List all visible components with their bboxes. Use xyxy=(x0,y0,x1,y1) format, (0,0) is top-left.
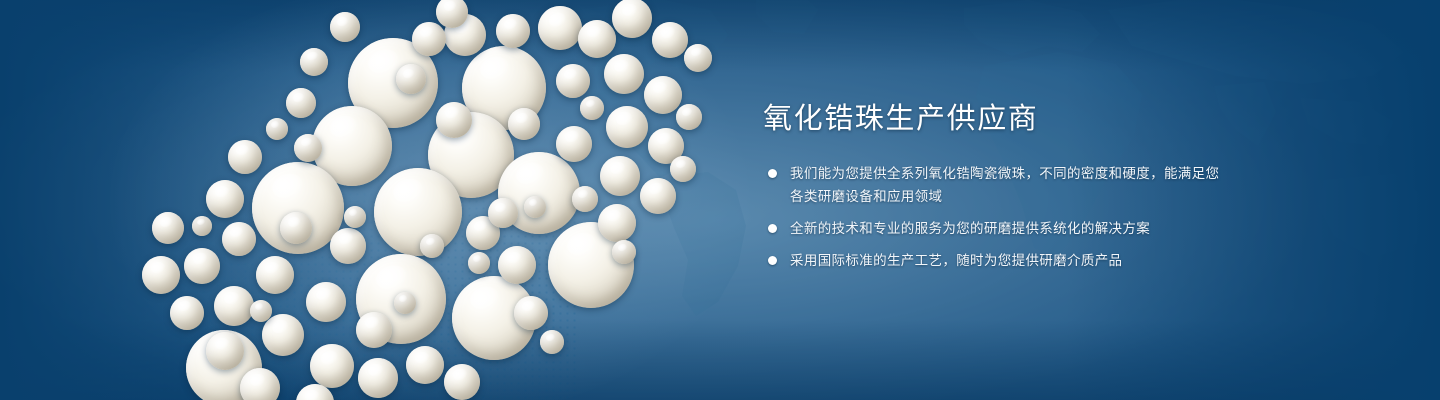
list-item-label: 我们能为您提供全系列氧化锆陶瓷微珠，不同的密度和硬度，能满足您各类研磨设备和应用… xyxy=(790,166,1219,204)
feature-list: 我们能为您提供全系列氧化锆陶瓷微珠，不同的密度和硬度，能满足您各类研磨设备和应用… xyxy=(763,162,1233,273)
bullet-dot-icon xyxy=(768,256,777,265)
list-item-label: 全新的技术和专业的服务为您的研磨提供系统化的解决方案 xyxy=(790,221,1150,236)
banner-copy: 氧化锆珠生产供应商 我们能为您提供全系列氧化锆陶瓷微珠，不同的密度和硬度，能满足… xyxy=(763,104,1233,273)
list-item: 采用国际标准的生产工艺，随时为您提供研磨介质产品 xyxy=(763,249,1233,272)
page-title: 氧化锆珠生产供应商 xyxy=(763,104,1233,135)
bullet-dot-icon xyxy=(768,224,777,233)
list-item: 我们能为您提供全系列氧化锆陶瓷微珠，不同的密度和硬度，能满足您各类研磨设备和应用… xyxy=(763,162,1233,208)
list-item: 全新的技术和专业的服务为您的研磨提供系统化的解决方案 xyxy=(763,217,1233,240)
list-item-label: 采用国际标准的生产工艺，随时为您提供研磨介质产品 xyxy=(790,253,1122,268)
hero-banner: 氧化锆珠生产供应商 我们能为您提供全系列氧化锆陶瓷微珠，不同的密度和硬度，能满足… xyxy=(0,0,1440,400)
bullet-dot-icon xyxy=(768,169,777,178)
